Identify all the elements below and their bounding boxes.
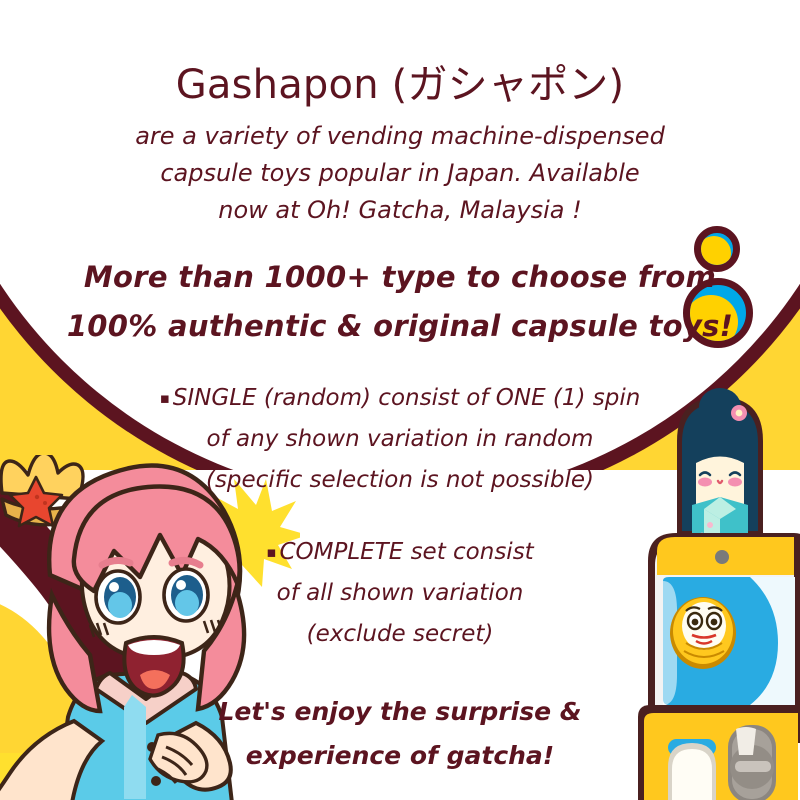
complete-line-2: of all shown variation bbox=[0, 573, 800, 614]
lede-paragraph: are a variety of vending machine-dispens… bbox=[0, 118, 800, 229]
lede-line-2: capsule toys popular in Japan. Available bbox=[0, 155, 800, 192]
page-title: Gashapon (ガシャポン) bbox=[0, 60, 800, 110]
lede-line-1: are a variety of vending machine-dispens… bbox=[0, 118, 800, 155]
cta-line-1: Let's enjoy the surprise & bbox=[0, 690, 800, 734]
complete-option-block: ▪COMPLETE set consist of all shown varia… bbox=[0, 532, 800, 655]
poster-canvas: Gashapon (ガシャポン) are a variety of vendin… bbox=[0, 0, 800, 800]
bullet-marker-icon: ▪ bbox=[266, 543, 276, 561]
complete-line-3: (exclude secret) bbox=[0, 614, 800, 655]
bullet-marker-icon: ▪ bbox=[160, 389, 170, 407]
cta-line-2: experience of gatcha! bbox=[0, 734, 800, 778]
call-to-action-block: Let's enjoy the surprise & experience of… bbox=[0, 690, 800, 778]
headline-line-2: 100% authentic & original capsule toys! bbox=[0, 302, 800, 351]
complete-line-1-text: COMPLETE set consist bbox=[279, 539, 533, 565]
single-line-2: of any shown variation in random bbox=[0, 419, 800, 460]
complete-line-1: ▪COMPLETE set consist bbox=[0, 532, 800, 573]
headline-block: More than 1000+ type to choose from 100%… bbox=[0, 253, 800, 351]
lede-line-3: now at Oh! Gatcha, Malaysia ! bbox=[0, 192, 800, 229]
single-line-1-text: SINGLE (random) consist of ONE (1) spin bbox=[173, 385, 641, 411]
single-option-block: ▪SINGLE (random) consist of ONE (1) spin… bbox=[0, 378, 800, 501]
single-line-3: (specific selection is not possible) bbox=[0, 460, 800, 501]
single-line-1: ▪SINGLE (random) consist of ONE (1) spin bbox=[0, 378, 800, 419]
headline-line-1: More than 1000+ type to choose from bbox=[0, 253, 800, 302]
